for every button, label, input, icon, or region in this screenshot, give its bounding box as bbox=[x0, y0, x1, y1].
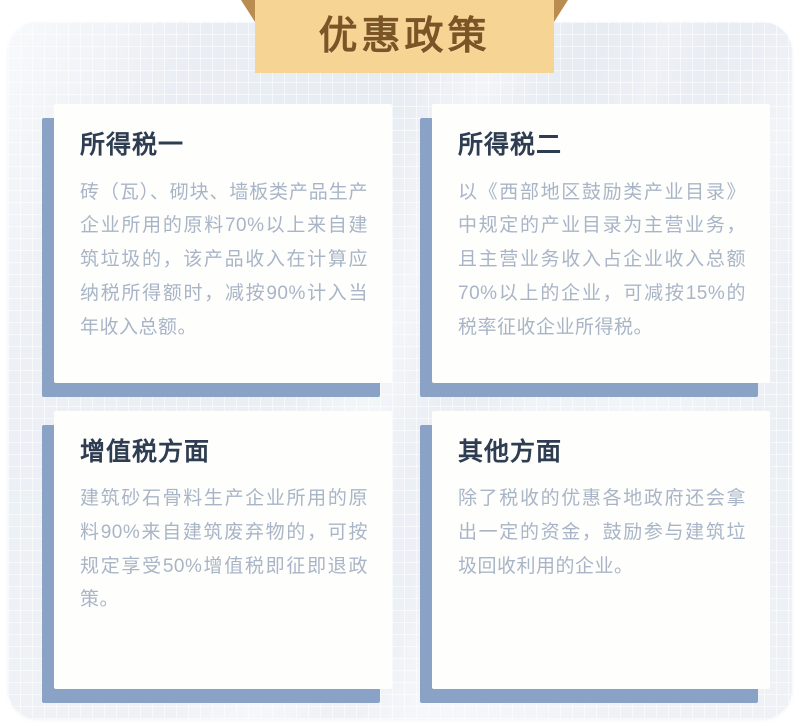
infographic-stage: 所得税一 砖（瓦）、砌块、墙板类产品生产企业所用的原料70%以上来自建筑垃圾的，… bbox=[0, 0, 800, 727]
policy-card-value-added-tax: 增值税方面 建筑砂石骨料生产企业所用的原料90%来自建筑废弃物的，可按规定享受5… bbox=[42, 411, 380, 690]
card-title: 增值税方面 bbox=[80, 439, 368, 467]
card-title: 所得税二 bbox=[458, 132, 746, 160]
card-body: 以《西部地区鼓励类产业目录》中规定的产业目录为主营业务，且主营业务收入占企业收入… bbox=[458, 176, 746, 345]
ribbon-fold-left-icon bbox=[241, 0, 255, 22]
page-title: 优惠政策 bbox=[318, 17, 490, 56]
card-body: 建筑砂石骨料生产企业所用的原料90%来自建筑废弃物的，可按规定享受50%增值税即… bbox=[80, 482, 368, 617]
policy-card-income-tax-one: 所得税一 砖（瓦）、砌块、墙板类产品生产企业所用的原料70%以上来自建筑垃圾的，… bbox=[42, 104, 380, 383]
card-title: 所得税一 bbox=[80, 132, 368, 160]
title-ribbon: 优惠政策 bbox=[241, 0, 568, 73]
policy-card-income-tax-two: 所得税二 以《西部地区鼓励类产业目录》中规定的产业目录为主营业务，且主营业务收入… bbox=[420, 104, 758, 383]
card-sheet: 所得税二 以《西部地区鼓励类产业目录》中规定的产业目录为主营业务，且主营业务收入… bbox=[432, 104, 770, 383]
card-body: 除了税收的优惠各地政府还会拿出一定的资金，鼓励参与建筑垃圾回收利用的企业。 bbox=[458, 482, 746, 583]
card-body: 砖（瓦）、砌块、墙板类产品生产企业所用的原料70%以上来自建筑垃圾的，该产品收入… bbox=[80, 176, 368, 345]
policy-card-other-aspects: 其他方面 除了税收的优惠各地政府还会拿出一定的资金，鼓励参与建筑垃圾回收利用的企… bbox=[420, 411, 758, 690]
background-panel: 所得税一 砖（瓦）、砌块、墙板类产品生产企业所用的原料70%以上来自建筑垃圾的，… bbox=[8, 22, 792, 719]
ribbon-fold-right-icon bbox=[554, 0, 568, 22]
card-sheet: 增值税方面 建筑砂石骨料生产企业所用的原料90%来自建筑废弃物的，可按规定享受5… bbox=[54, 411, 392, 690]
policy-card-grid: 所得税一 砖（瓦）、砌块、墙板类产品生产企业所用的原料70%以上来自建筑垃圾的，… bbox=[8, 22, 792, 719]
ribbon-body: 优惠政策 bbox=[255, 0, 554, 73]
card-sheet: 其他方面 除了税收的优惠各地政府还会拿出一定的资金，鼓励参与建筑垃圾回收利用的企… bbox=[432, 411, 770, 690]
card-sheet: 所得税一 砖（瓦）、砌块、墙板类产品生产企业所用的原料70%以上来自建筑垃圾的，… bbox=[54, 104, 392, 383]
card-title: 其他方面 bbox=[458, 439, 746, 467]
